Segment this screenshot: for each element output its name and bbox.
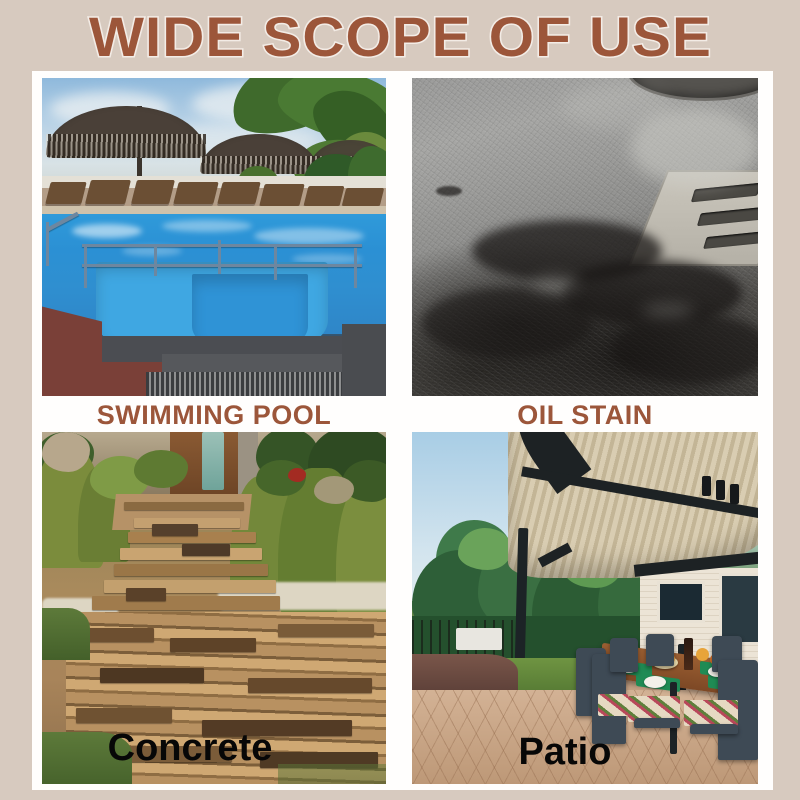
- image-tile-swimming-pool: [42, 78, 386, 396]
- caption-oil-stain: OIL STAIN: [412, 401, 758, 429]
- content-panel: Concrete: [32, 71, 773, 790]
- photo-oil-stain: [412, 78, 758, 396]
- image-tile-patio: Patio: [412, 432, 758, 784]
- page-title: WIDE SCOPE OF USE: [89, 4, 712, 69]
- photo-swimming-pool: [42, 78, 386, 396]
- caption-swimming-pool: SWIMMING POOL: [42, 401, 386, 429]
- image-tile-concrete: Concrete: [42, 432, 386, 784]
- title-bar: WIDE SCOPE OF USE: [0, 0, 800, 72]
- image-tile-oil-stain: [412, 78, 758, 396]
- photo-concrete: Concrete: [42, 432, 386, 784]
- poster-root: WIDE SCOPE OF USE: [0, 0, 800, 800]
- photo-patio: Patio: [412, 432, 758, 784]
